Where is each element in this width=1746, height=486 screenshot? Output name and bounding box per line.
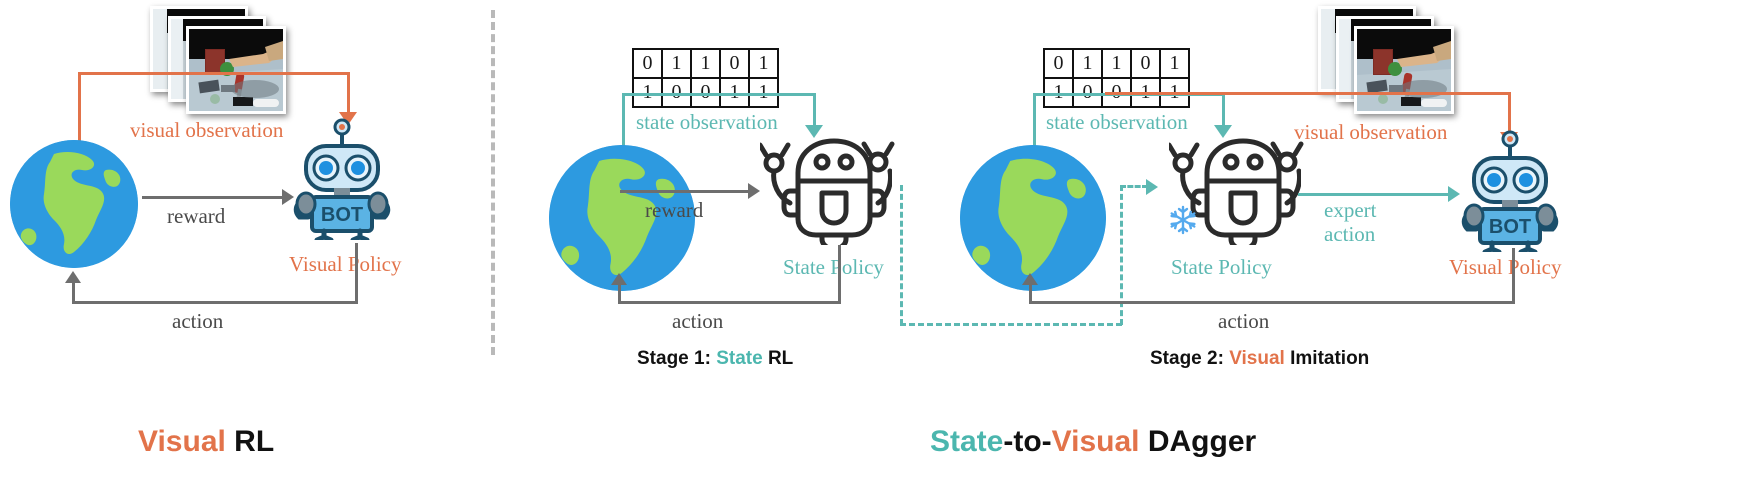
right-panel-title: State-to-Visual DAgger: [930, 425, 1256, 459]
panel-divider: [491, 10, 495, 355]
stage1-caption-suffix: RL: [763, 348, 794, 369]
action-line-down-left: [355, 243, 358, 303]
visual-obs-line-top-left: [78, 72, 348, 75]
environment-globe-left: [10, 140, 138, 268]
action-line-up-left: [72, 282, 75, 302]
svg-text:BOT: BOT: [321, 204, 363, 226]
policy-transfer-line-down: [900, 185, 903, 325]
expert-action-label-line1: expert: [1324, 198, 1376, 223]
left-panel-title-visual: Visual: [138, 425, 226, 458]
stage2-caption: Stage 2: Visual Imitation: [1150, 348, 1369, 370]
reward-arrowhead-stage1: [748, 183, 760, 199]
stage1-caption-highlight: State: [716, 348, 762, 369]
left-panel-title-rl: RL: [226, 425, 274, 458]
state-policy-robot-antenna-stage1: [856, 136, 900, 192]
visual-policy-label-left: Visual Policy: [289, 252, 402, 277]
state-obs-line-down-stage1: [813, 93, 816, 129]
state-cell: 0: [1044, 49, 1073, 78]
state-obs-line-top-stage1: [622, 93, 816, 96]
action-arrowhead-left: [65, 271, 81, 283]
right-panel-title-to: -to-: [1003, 425, 1051, 458]
state-cell: 0: [720, 49, 749, 78]
expert-action-label-line2: action: [1324, 222, 1375, 247]
visual-observation-label-left: visual observation: [130, 118, 283, 143]
table-row: 0 1 1 0 1: [1044, 49, 1189, 78]
image-frame-front: [1354, 26, 1454, 114]
action-line-bottom-stage1: [618, 301, 841, 304]
action-label-left: action: [172, 309, 223, 334]
state-cell: 1: [1160, 49, 1189, 78]
action-line-up-stage2: [1029, 284, 1032, 302]
table-row: 0 1 1 0 1: [633, 49, 778, 78]
action-label-stage1: action: [672, 309, 723, 334]
state-cell: 1: [1102, 49, 1131, 78]
state-cell: 1: [691, 49, 720, 78]
stage2-caption-prefix: Stage 2:: [1150, 348, 1229, 369]
figure-canvas: visual observation reward: [0, 0, 1746, 486]
right-panel-title-visual: Visual: [1052, 425, 1140, 458]
stage1-caption: Stage 1: State RL: [637, 348, 793, 370]
environment-globe-stage2: [960, 145, 1106, 291]
action-line-up-stage1: [618, 284, 621, 302]
reward-label-left: reward: [167, 204, 225, 229]
state-policy-label-stage2: State Policy: [1171, 255, 1272, 280]
state-observation-label-stage2: state observation: [1046, 110, 1188, 135]
right-panel-title-state: State: [930, 425, 1003, 458]
state-cell: 0: [633, 49, 662, 78]
action-arrowhead-stage2: [1022, 273, 1038, 285]
image-frame-front: [186, 26, 286, 114]
visual-policy-label-stage2: Visual Policy: [1449, 255, 1562, 280]
action-line-bottom-left: [72, 301, 358, 304]
visual-policy-robot-stage2: BOT: [1452, 130, 1568, 252]
stage2-caption-suffix: Imitation: [1285, 348, 1369, 369]
action-line-down-stage2: [1512, 248, 1515, 303]
state-obs-line-down-stage2: [1222, 93, 1225, 129]
action-line-bottom-stage2: [1029, 301, 1515, 304]
stage2-caption-highlight: Visual: [1229, 348, 1285, 369]
expert-action-line: [1298, 193, 1450, 196]
state-policy-label-stage1: State Policy: [783, 255, 884, 280]
state-cell: 0: [1131, 49, 1160, 78]
snowflake-icon: [1168, 205, 1198, 240]
visual-observation-frames-left: [150, 6, 280, 114]
visual-observation-label-stage2: visual observation: [1294, 120, 1447, 145]
svg-text:BOT: BOT: [1489, 216, 1531, 238]
policy-transfer-line-up: [1120, 185, 1123, 325]
state-observation-table-stage1: 0 1 1 0 1 1 0 0 1 1: [632, 48, 779, 108]
left-panel-title: Visual RL: [138, 425, 274, 459]
action-arrowhead-stage1: [611, 273, 627, 285]
policy-transfer-line-bottom: [900, 323, 1122, 326]
action-label-stage2: action: [1218, 309, 1269, 334]
state-observation-label-stage1: state observation: [636, 110, 778, 135]
reward-line-left: [142, 196, 284, 199]
state-cell: 1: [749, 49, 778, 78]
policy-transfer-line-top: [1120, 185, 1148, 188]
right-panel-title-dagger: DAgger: [1140, 425, 1257, 458]
state-cell: 1: [662, 49, 691, 78]
action-line-down-stage1: [838, 245, 841, 303]
visual-policy-robot-left: BOT: [284, 118, 400, 240]
policy-transfer-arrowhead: [1146, 179, 1158, 195]
reward-line-stage1: [620, 190, 750, 193]
visual-obs-line-down-left: [347, 72, 350, 116]
visual-observation-frames-stage2: [1318, 6, 1448, 114]
visual-obs-line-top-stage2: [1105, 92, 1510, 95]
state-observation-table-stage2: 0 1 1 0 1 1 0 0 1 1: [1043, 48, 1190, 108]
reward-label-stage1: reward: [645, 198, 703, 223]
stage1-caption-prefix: Stage 1:: [637, 348, 716, 369]
state-cell: 1: [1073, 49, 1102, 78]
